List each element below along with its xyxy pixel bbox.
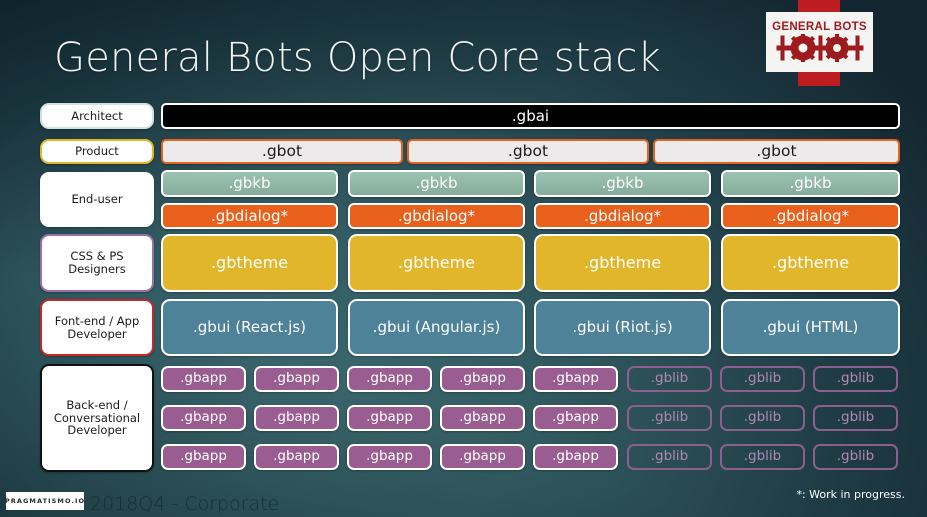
layer-gbapp: .gbapp <box>533 405 618 431</box>
role-label-product: Product <box>40 139 154 164</box>
layer-gbui-react: .gbui (React.js) <box>161 299 338 356</box>
layer-gblib: .gblib <box>627 444 712 470</box>
layer-gbkb: .gbkb <box>348 170 525 197</box>
layer-gbtheme: .gbtheme <box>534 234 711 292</box>
layer-gbui-angular: .gbui (Angular.js) <box>348 299 525 356</box>
footer-note: 2018Q4 - Corporate <box>90 493 279 515</box>
layer-gblib: .gblib <box>813 444 898 470</box>
layer-gblib: .gblib <box>720 366 805 392</box>
role-label-architect: Architect <box>40 103 154 129</box>
layer-gbapp: .gbapp <box>533 444 618 470</box>
layer-gbapp: .gbapp <box>254 405 339 431</box>
layer-gbdialog: .gbdialog* <box>721 203 900 229</box>
layer-gbdialog: .gbdialog* <box>534 203 711 229</box>
role-label-css-ps-designers: CSS & PS Designers <box>40 234 154 292</box>
layer-gbtheme: .gbtheme <box>348 234 525 292</box>
layer-gbdialog: .gbdialog* <box>161 203 338 229</box>
layer-gbot: .gbot <box>653 139 900 164</box>
general-bots-logo: GENERAL BOTS <box>766 12 873 72</box>
layer-gbapp: .gbapp <box>533 366 618 392</box>
layer-gbapp: .gbapp <box>440 405 525 431</box>
gears-icon <box>775 34 865 62</box>
layer-gblib: .gblib <box>627 405 712 431</box>
layer-gbtheme: .gbtheme <box>161 234 338 292</box>
layer-gblib: .gblib <box>627 366 712 392</box>
logo-wordmark: GENERAL BOTS <box>772 22 867 34</box>
layer-gbapp: .gbapp <box>440 366 525 392</box>
layer-gbapp: .gbapp <box>440 444 525 470</box>
layer-gbai: .gbai <box>161 103 900 129</box>
role-label-front-end-developer: Font-end / App Developer <box>40 299 154 356</box>
work-in-progress-note: *: Work in progress. <box>796 488 905 501</box>
layer-gbapp: .gbapp <box>347 366 432 392</box>
role-label-back-end-developer: Back-end / Conversational Developer <box>40 364 154 472</box>
layer-gblib: .gblib <box>813 405 898 431</box>
layer-gbot: .gbot <box>161 139 403 164</box>
slide-canvas: GENERAL BOTS <box>0 0 927 517</box>
layer-gbot: .gbot <box>407 139 649 164</box>
layer-gblib: .gblib <box>720 405 805 431</box>
layer-gbapp: .gbapp <box>347 405 432 431</box>
layer-gbkb: .gbkb <box>161 170 338 197</box>
layer-gblib: .gblib <box>813 366 898 392</box>
layer-gblib: .gblib <box>720 444 805 470</box>
layer-gbapp: .gbapp <box>347 444 432 470</box>
layer-gbapp: .gbapp <box>254 444 339 470</box>
layer-gbkb: .gbkb <box>534 170 711 197</box>
layer-gbapp: .gbapp <box>161 405 246 431</box>
layer-gbapp: .gbapp <box>254 366 339 392</box>
layer-gbkb: .gbkb <box>721 170 900 197</box>
layer-gbdialog: .gbdialog* <box>348 203 525 229</box>
layer-gbapp: .gbapp <box>161 366 246 392</box>
layer-gbui-riot: .gbui (Riot.js) <box>534 299 711 356</box>
layer-gbui-html: .gbui (HTML) <box>721 299 900 356</box>
layer-gbapp: .gbapp <box>161 444 246 470</box>
role-label-end-user: End-user <box>40 172 154 227</box>
layer-gbtheme: .gbtheme <box>721 234 900 292</box>
stack-diagram: Architect Product End-user CSS & PS Desi… <box>0 0 927 517</box>
slide-footer: PRAGMATISMO.IO 2018Q4 - Corporate *: Wor… <box>0 483 927 517</box>
pragmatismo-wordmark: PRAGMATISMO.IO <box>5 497 85 505</box>
pragmatismo-badge: PRAGMATISMO.IO <box>6 492 84 510</box>
